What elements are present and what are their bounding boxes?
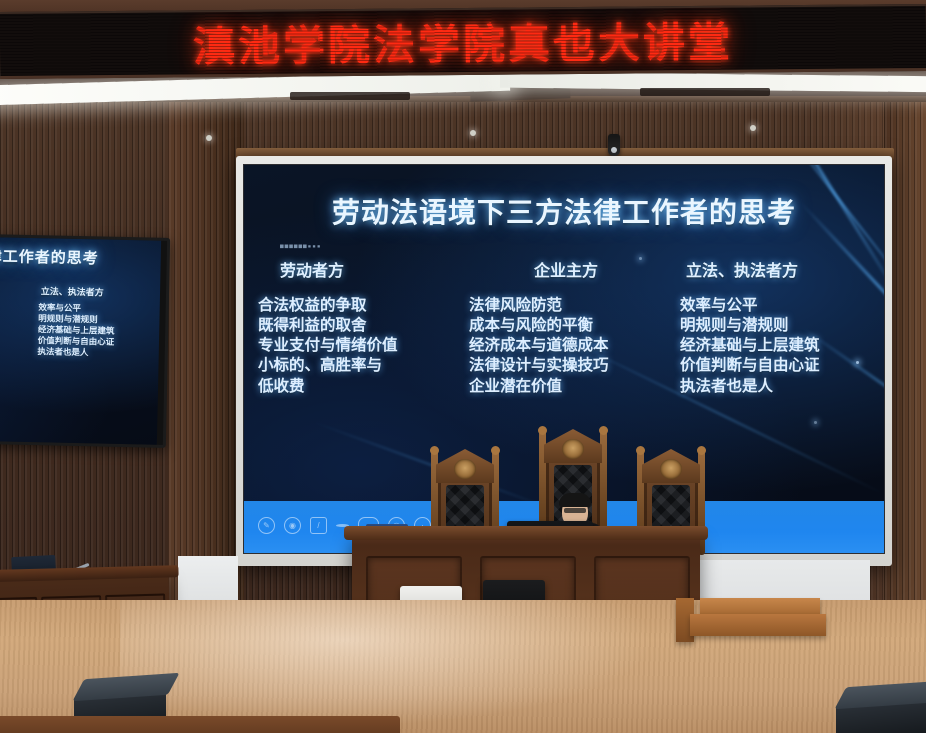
worker-line-3: 专业支付与情绪价值	[258, 335, 452, 355]
ceiling-camera-icon	[608, 134, 620, 156]
ceiling-downlight-3	[750, 125, 756, 131]
lawmaker-line-2: 明规则与潜规则	[680, 315, 874, 335]
slide-title: 劳动法语境下三方法律工作者的思考	[244, 191, 884, 231]
lawmaker-line-5: 执法者也是人	[680, 376, 874, 396]
lawmaker-line-1: 效率与公平	[680, 295, 874, 315]
court-emblem-icon	[660, 459, 682, 479]
side-col2-heading: 企业主方	[0, 282, 29, 297]
employer-line-1: 法律风险防范	[469, 295, 663, 315]
ceiling-vent-right	[640, 88, 770, 96]
slide-column-employer: 企业主方 法律风险防范 成本与风险的平衡 经济成本与道德成本 法律设计与实操技巧…	[469, 257, 663, 396]
employer-line-5: 企业潜在价值	[469, 376, 663, 396]
lecture-hall-photo: 滇池学院法学院真也大讲堂 劳动法语境下三方法律工作者的思考 劳动者方 合法权益的…	[0, 0, 926, 733]
side-display-slide: 劳动法语境下三方法律工作者的思考 劳动者方 合法权益的争取 既得利益的取舍 专业…	[0, 234, 161, 448]
led-banner: 滇池学院法学院真也大讲堂	[0, 4, 926, 79]
ceiling-vent-left	[290, 92, 410, 100]
side-col2-line3: 经济成本与道德成本	[0, 323, 28, 336]
lawmaker-line-3: 经济基础与上层建筑	[680, 335, 874, 355]
slide-column-worker: 劳动者方 合法权益的争取 既得利益的取舍 专业支付与情绪价值 小标的、高胜率与 …	[258, 257, 452, 396]
side-slide-title: 劳动法语境下三方法律工作者的思考	[0, 241, 161, 270]
slide-decor-marks: ■■■■■■▪▪▪	[280, 243, 322, 250]
worker-line-1: 合法权益的争取	[258, 295, 452, 315]
front-bench-rail	[0, 716, 400, 733]
court-emblem-icon	[454, 459, 476, 479]
floor-light-reflection	[120, 600, 680, 733]
floor-speaker-right	[836, 684, 926, 733]
pen-icon[interactable]: ✎	[258, 517, 275, 534]
side-col2-line2: 成本与风险的平衡	[0, 312, 28, 325]
highlighter-icon[interactable]: /	[310, 517, 327, 534]
column-heading-employer: 企业主方	[469, 257, 663, 281]
employer-line-4: 法律设计与实操技巧	[469, 355, 663, 375]
side-col3-line5: 执法者也是人	[37, 347, 152, 360]
employer-line-2: 成本与风险的平衡	[469, 315, 663, 335]
decor-spark-2	[814, 421, 817, 424]
column-heading-lawmaker: 立法、执法者方	[680, 257, 874, 281]
ceiling-downlight-2	[470, 130, 476, 136]
side-col2-line5: 企业潜在价值	[0, 345, 28, 358]
side-col2-line1: 法律风险防范	[0, 301, 28, 314]
ceiling-downlight-1	[206, 135, 212, 141]
stage-step-upper	[700, 598, 820, 614]
lawmaker-line-4: 价值判断与自由心证	[680, 355, 874, 375]
employer-line-3: 经济成本与道德成本	[469, 335, 663, 355]
side-col3-heading: 立法、执法者方	[39, 284, 155, 299]
led-banner-text: 滇池学院法学院真也大讲堂	[193, 8, 734, 74]
worker-line-4: 小标的、高胜率与	[258, 355, 452, 375]
side-display-monitor: 劳动法语境下三方法律工作者的思考 劳动者方 合法权益的争取 既得利益的取舍 专业…	[0, 234, 170, 448]
slide-columns: 劳动者方 合法权益的争取 既得利益的取舍 专业支付与情绪价值 小标的、高胜率与 …	[258, 257, 874, 396]
side-col2-line4: 法律设计与实操技巧	[0, 334, 28, 347]
column-heading-worker: 劳动者方	[258, 257, 452, 281]
worker-line-5: 低收费	[258, 376, 452, 396]
stage-step-lower	[690, 614, 826, 636]
court-emblem-icon	[562, 439, 584, 459]
worker-line-2: 既得利益的取舍	[258, 315, 452, 335]
wall-column-left	[168, 92, 244, 612]
cursor-icon[interactable]: ◉	[284, 517, 301, 534]
slide-column-lawmaker: 立法、执法者方 效率与公平 明规则与潜规则 经济基础与上层建筑 价值判断与自由心…	[680, 257, 874, 396]
